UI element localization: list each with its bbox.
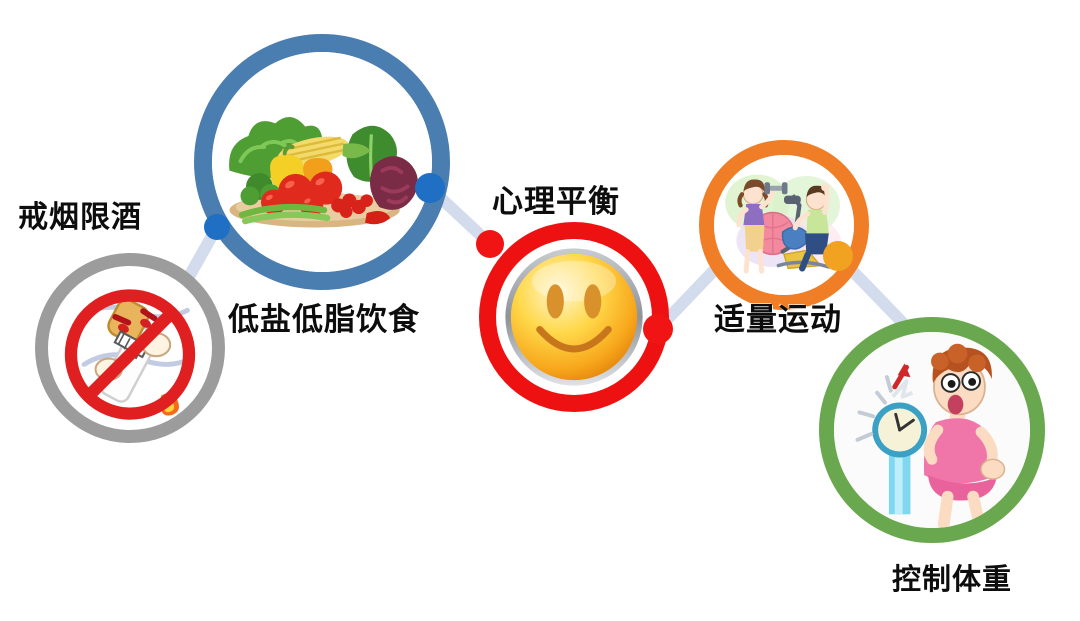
node-label-low-salt-low-fat-diet: 低盐低脂饮食	[228, 294, 420, 339]
node-label-no-smoking: 戒烟限酒	[18, 192, 142, 236]
node-label-weight-control: 控制体重	[892, 556, 1012, 598]
node-label-moderate-exercise: 适量运动	[714, 294, 842, 339]
infographic-stage: 戒烟限酒低盐低脂饮食心理平衡适量运动控制体重	[0, 0, 1080, 621]
labels-layer: 戒烟限酒低盐低脂饮食心理平衡适量运动控制体重	[0, 0, 1080, 621]
node-label-mental-balance: 心理平衡	[492, 176, 620, 221]
